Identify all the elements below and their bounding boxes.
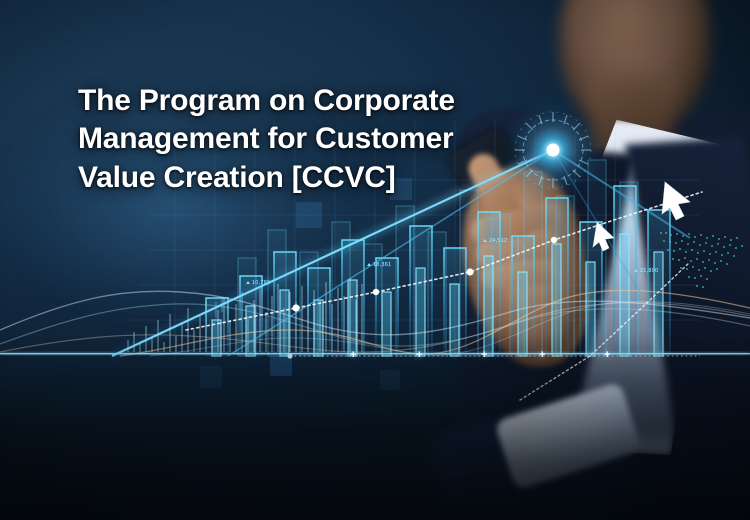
title-line-1: The Program on Corporate [78, 82, 548, 120]
data-label-1: 10,789 [246, 280, 270, 286]
banner-image: 10,789 18,361 24,512 31,890 + + + + + Th… [0, 0, 750, 520]
axis-marker-3: + [481, 350, 487, 361]
data-label-3: 24,512 [483, 238, 507, 244]
triangle-up-icon [246, 281, 250, 284]
axis-marker-1: + [350, 350, 356, 361]
axis-marker-4: + [539, 350, 545, 361]
page-title: The Program on Corporate Management for … [78, 82, 548, 197]
axis-marker-2: + [416, 350, 422, 361]
background-vignette [0, 0, 750, 520]
triangle-up-icon [483, 239, 487, 242]
triangle-up-icon [634, 269, 638, 272]
title-line-3: Value Creation [CCVC] [78, 159, 548, 197]
data-label-4: 31,890 [634, 268, 658, 274]
data-label-2: 18,361 [367, 262, 391, 268]
title-line-2: Management for Customer [78, 120, 548, 158]
triangle-up-icon [367, 263, 371, 266]
axis-marker-5: + [604, 350, 610, 361]
